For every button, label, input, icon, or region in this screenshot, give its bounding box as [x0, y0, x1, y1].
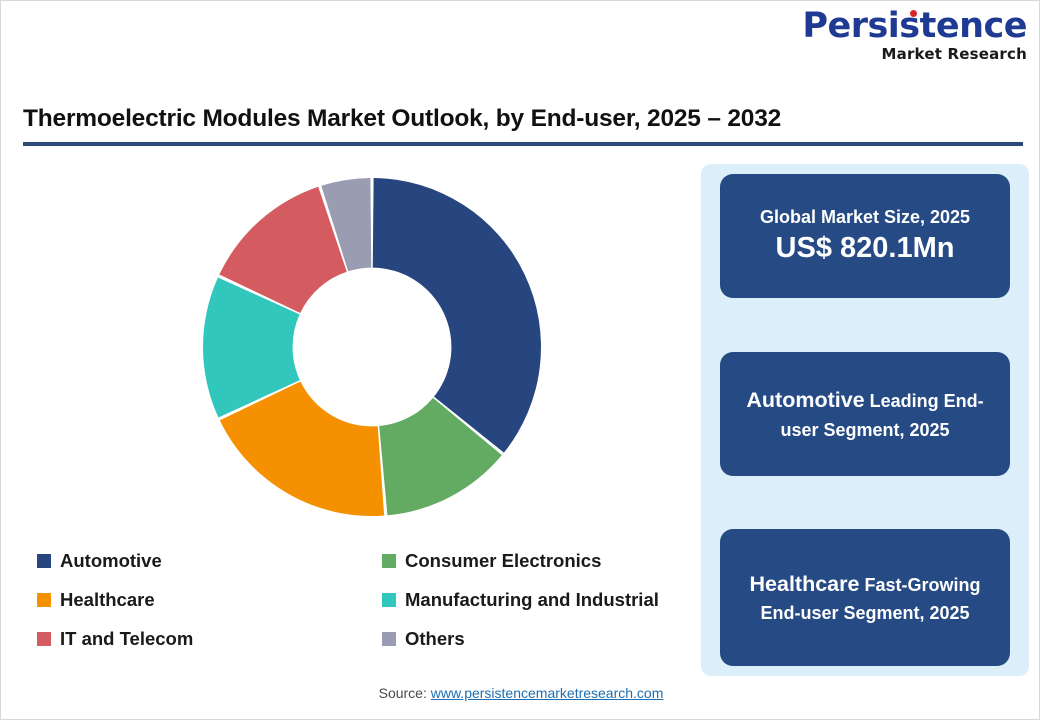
- stat-card-leading-segment: Automotive Leading End-user Segment, 202…: [720, 352, 1010, 476]
- legend-swatch-icon: [37, 632, 51, 646]
- title-block: Thermoelectric Modules Market Outlook, b…: [23, 105, 1023, 146]
- legend-item-consumer-electronics[interactable]: Consumer Electronics: [382, 550, 712, 572]
- legend-item-label: Healthcare: [60, 589, 155, 611]
- page-title: Thermoelectric Modules Market Outlook, b…: [23, 105, 1023, 133]
- stat-card-text: Automotive Leading End-user Segment, 202…: [734, 385, 996, 442]
- donut-chart: [203, 178, 541, 516]
- legend-item-label: Consumer Electronics: [405, 550, 601, 572]
- legend-item-label: Others: [405, 628, 465, 650]
- legend-item-label: Automotive: [60, 550, 162, 572]
- stat-card-value: US$ 820.1Mn: [776, 231, 955, 266]
- stat-card-caption: Global Market Size, 2025: [760, 206, 970, 229]
- stat-card-fastest-growing-segment: Healthcare Fast-Growing End-user Segment…: [720, 529, 1010, 666]
- legend-item-manufacturing-and-industrial[interactable]: Manufacturing and Industrial: [382, 589, 712, 611]
- legend-item-healthcare[interactable]: Healthcare: [37, 589, 382, 611]
- title-underline-rule: [23, 142, 1023, 146]
- legend-item-automotive[interactable]: Automotive: [37, 550, 382, 572]
- source-label: Source:: [379, 685, 431, 701]
- logo-brand-text: Persistence: [802, 9, 1027, 44]
- stat-card-market-size: Global Market Size, 2025 US$ 820.1Mn: [720, 174, 1010, 298]
- legend-swatch-icon: [382, 593, 396, 607]
- legend-item-label: Manufacturing and Industrial: [405, 589, 659, 611]
- source-link[interactable]: www.persistencemarketresearch.com: [431, 685, 664, 701]
- stat-card-text: Healthcare Fast-Growing End-user Segment…: [734, 569, 996, 626]
- chart-area: [15, 161, 695, 561]
- highlights-panel: Global Market Size, 2025 US$ 820.1Mn Aut…: [701, 164, 1029, 676]
- legend-item-label: IT and Telecom: [60, 628, 193, 650]
- logo-subtitle: Market Research: [802, 47, 1027, 62]
- legend-swatch-icon: [382, 632, 396, 646]
- stat-card-lead-term: Automotive: [746, 388, 864, 412]
- legend-item-others[interactable]: Others: [382, 628, 712, 650]
- donut-slice-group: [203, 178, 541, 516]
- legend-swatch-icon: [37, 554, 51, 568]
- stat-card-lead-term: Healthcare: [750, 572, 860, 596]
- legend-swatch-icon: [37, 593, 51, 607]
- legend-swatch-icon: [382, 554, 396, 568]
- donut-slice-automotive[interactable]: [373, 178, 541, 453]
- legend-item-it-and-telecom[interactable]: IT and Telecom: [37, 628, 382, 650]
- source-footer: Source: www.persistencemarketresearch.co…: [1, 685, 1040, 701]
- donut-chart-svg: [203, 178, 541, 516]
- chart-legend: Automotive Consumer Electronics Healthca…: [37, 541, 717, 658]
- company-logo: Persistence Market Research: [802, 9, 1027, 62]
- infographic-page: Persistence Market Research Thermoelectr…: [0, 0, 1040, 720]
